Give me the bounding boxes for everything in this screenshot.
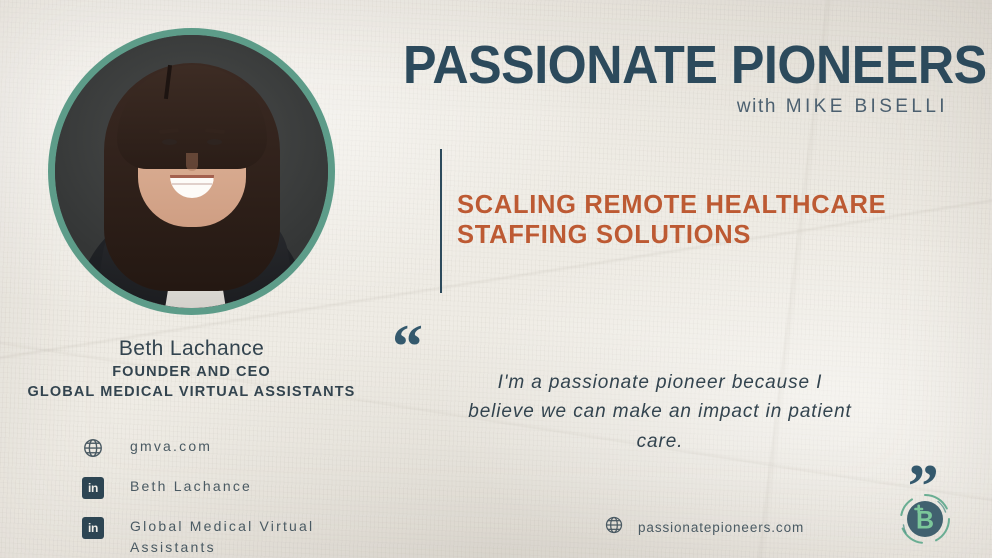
- linkedin-icon: in: [82, 477, 104, 499]
- show-host: with MIKE BISELLI: [362, 96, 948, 118]
- guest-photo: [55, 35, 328, 308]
- photo-teeth-line: [172, 183, 212, 185]
- biselli-logo[interactable]: B: [898, 492, 952, 546]
- globe-icon: [82, 437, 104, 459]
- show-title: PASSIONATE PIONEERS: [403, 38, 948, 92]
- contact-label: Beth Lachance: [130, 476, 252, 497]
- guest-role: FOUNDER AND CEO: [0, 363, 383, 383]
- contact-row-website[interactable]: gmva.com: [82, 436, 372, 459]
- quote-close-mark: “: [908, 432, 939, 494]
- contact-row-linkedin-company[interactable]: in Global Medical Virtual Assistants: [82, 516, 372, 558]
- episode-title: SCALING REMOTE HEALTHCARE STAFFING SOLUT…: [457, 190, 927, 250]
- contact-label: gmva.com: [130, 436, 212, 457]
- globe-icon: [604, 515, 624, 540]
- quote-open-mark: “: [392, 316, 423, 378]
- show-host-prefix: with: [737, 96, 777, 117]
- contact-row-linkedin-personal[interactable]: in Beth Lachance: [82, 476, 372, 499]
- photo-eye-right: [207, 139, 222, 145]
- guest-info-block: Beth Lachance FOUNDER AND CEO GLOBAL MED…: [0, 338, 383, 402]
- podcast-episode-graphic: Beth Lachance FOUNDER AND CEO GLOBAL MED…: [0, 0, 992, 558]
- episode-title-line-1: SCALING REMOTE HEALTHCARE: [457, 190, 927, 220]
- guest-contact-list: gmva.com in Beth Lachance in Global Medi…: [82, 436, 372, 558]
- guest-company: GLOBAL MEDICAL VIRTUAL ASSISTANTS: [0, 383, 383, 403]
- episode-title-rule: [440, 149, 442, 293]
- footer-website[interactable]: passionatepioneers.com: [604, 515, 804, 540]
- linkedin-icon: in: [82, 517, 104, 539]
- episode-title-line-2: STAFFING SOLUTIONS: [457, 220, 927, 250]
- photo-eye-left: [162, 139, 177, 145]
- quote-text: I'm a passionate pioneer because I belie…: [462, 368, 858, 456]
- contact-label: Global Medical Virtual Assistants: [130, 516, 355, 558]
- guest-name: Beth Lachance: [0, 338, 383, 360]
- guest-photo-ring: [48, 28, 335, 315]
- photo-nose: [186, 153, 198, 171]
- show-host-name: MIKE BISELLI: [786, 96, 948, 117]
- footer-website-label: passionatepioneers.com: [638, 520, 804, 535]
